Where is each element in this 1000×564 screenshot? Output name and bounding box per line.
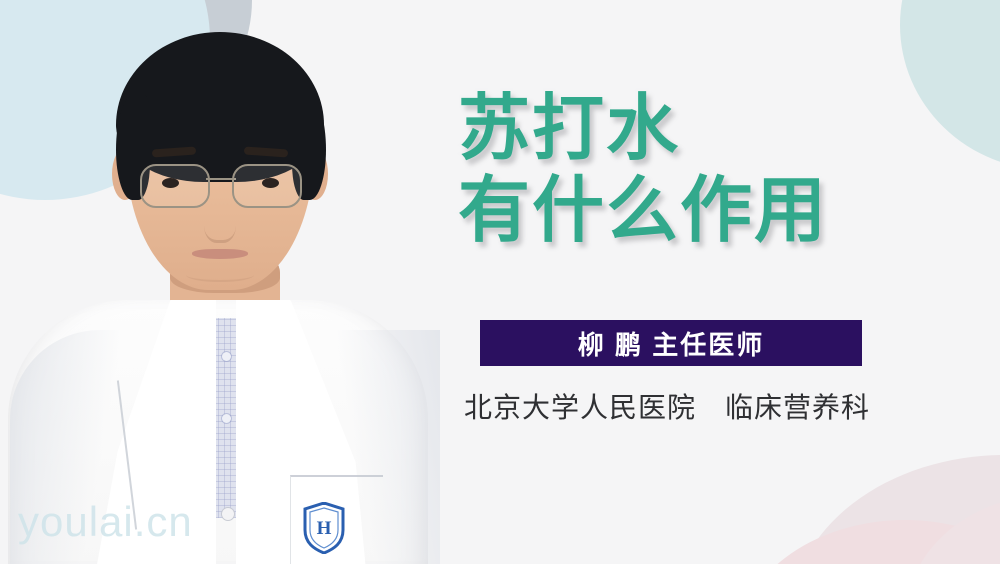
site-watermark: youlai.cn: [18, 498, 193, 546]
portrait-eye-right: [262, 178, 279, 188]
doctor-name-badge: 柳 鹏 主任医师: [480, 320, 862, 366]
doctor-portrait: H: [0, 0, 440, 564]
portrait-chin: [186, 268, 254, 282]
hospital-shield-emblem: H: [303, 502, 345, 554]
doctor-name-title: 柳 鹏 主任医师: [578, 325, 764, 362]
video-title: 苏打水 有什么作用: [458, 88, 958, 252]
portrait-coat-button: [222, 508, 234, 520]
portrait-eye-left: [162, 178, 179, 188]
portrait-mouth: [192, 249, 248, 259]
thumbnail-canvas: H 苏打水 有什么作用 柳 鹏 主任医师: [0, 0, 1000, 564]
text-panel: 苏打水 有什么作用 柳 鹏 主任医师 北京大学人民医院 临床营养科: [458, 0, 958, 564]
doctor-affiliation: 北京大学人民医院 临床营养科: [464, 386, 944, 426]
svg-text:H: H: [317, 518, 332, 539]
shirt-button: [222, 414, 231, 423]
video-title-line-2: 有什么作用: [458, 170, 958, 252]
portrait-nose: [204, 200, 236, 243]
shirt-button: [222, 352, 231, 361]
video-title-line-1: 苏打水: [458, 88, 958, 170]
